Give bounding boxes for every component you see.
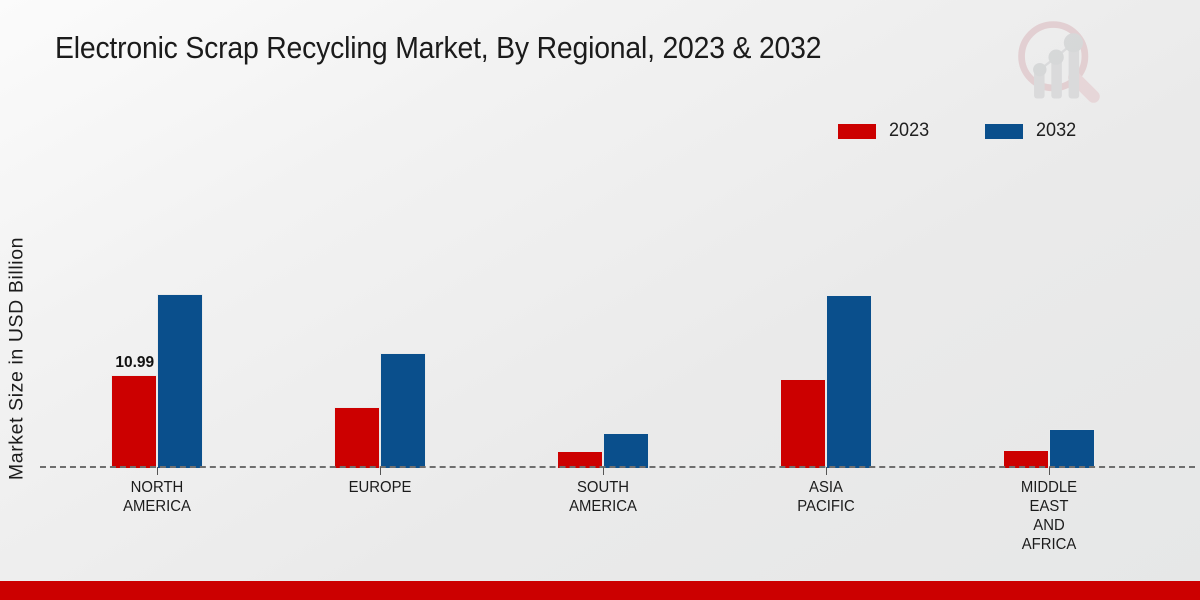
bar-2023[interactable] (334, 407, 380, 468)
legend-label-2032: 2032 (1036, 120, 1076, 142)
category-label-line: NORTH (75, 478, 238, 497)
bar-2032[interactable] (603, 433, 649, 468)
bar-group (557, 160, 649, 468)
category-label-line: EAST (967, 497, 1130, 516)
brand-watermark-icon (1010, 14, 1108, 110)
category-label-line: AMERICA (521, 497, 684, 516)
y-axis-title: Market Size in USD Billion (0, 0, 34, 600)
page-title: Electronic Scrap Recycling Market, By Re… (55, 31, 821, 66)
legend-swatch-2032 (985, 124, 1023, 139)
category-label-line: AFRICA (967, 535, 1130, 554)
bar-group (334, 160, 426, 468)
bar-group (1003, 160, 1095, 468)
category-label-line: PACIFIC (744, 497, 907, 516)
bar-2032[interactable] (157, 294, 203, 468)
x-axis-category-label: ASIAPACIFIC (744, 478, 907, 516)
axis-tick (1049, 467, 1050, 475)
bar-2032[interactable] (1049, 429, 1095, 468)
axis-tick (603, 467, 604, 475)
axis-tick (826, 467, 827, 475)
category-label-line: SOUTH (521, 478, 684, 497)
legend-label-2023: 2023 (889, 120, 929, 142)
chart-page: Electronic Scrap Recycling Market, By Re… (0, 0, 1200, 600)
bar-2032[interactable] (826, 295, 872, 468)
category-label-line: EUROPE (298, 478, 461, 497)
bar-group: 10.99 (111, 160, 203, 468)
axis-tick (157, 467, 158, 475)
category-label-line: AND (967, 516, 1130, 535)
plot-area: 10.99 (40, 160, 1195, 468)
category-label-line: MIDDLE (967, 478, 1130, 497)
bar-2023[interactable] (780, 379, 826, 468)
bar-value-label: 10.99 (115, 354, 154, 372)
axis-tick (380, 467, 381, 475)
y-axis-title-text: Market Size in USD Billion (6, 237, 29, 480)
category-label-line: ASIA (744, 478, 907, 497)
bar-2032[interactable] (380, 353, 426, 468)
chart-legend: 2023 2032 (838, 120, 1079, 142)
x-axis-category-label: EUROPE (298, 478, 461, 497)
x-axis-category-label: MIDDLEEASTANDAFRICA (967, 478, 1130, 554)
x-axis-baseline (40, 466, 1195, 468)
bar-group (780, 160, 872, 468)
legend-item-2032[interactable]: 2032 (985, 120, 1078, 142)
category-label-line: AMERICA (75, 497, 238, 516)
legend-item-2023[interactable]: 2023 (838, 120, 931, 142)
bar-2023[interactable]: 10.99 (111, 375, 157, 468)
bottom-accent-strip (0, 581, 1200, 600)
legend-swatch-2023 (838, 124, 876, 139)
x-axis-category-label: SOUTHAMERICA (521, 478, 684, 516)
x-axis-category-label: NORTHAMERICA (75, 478, 238, 516)
